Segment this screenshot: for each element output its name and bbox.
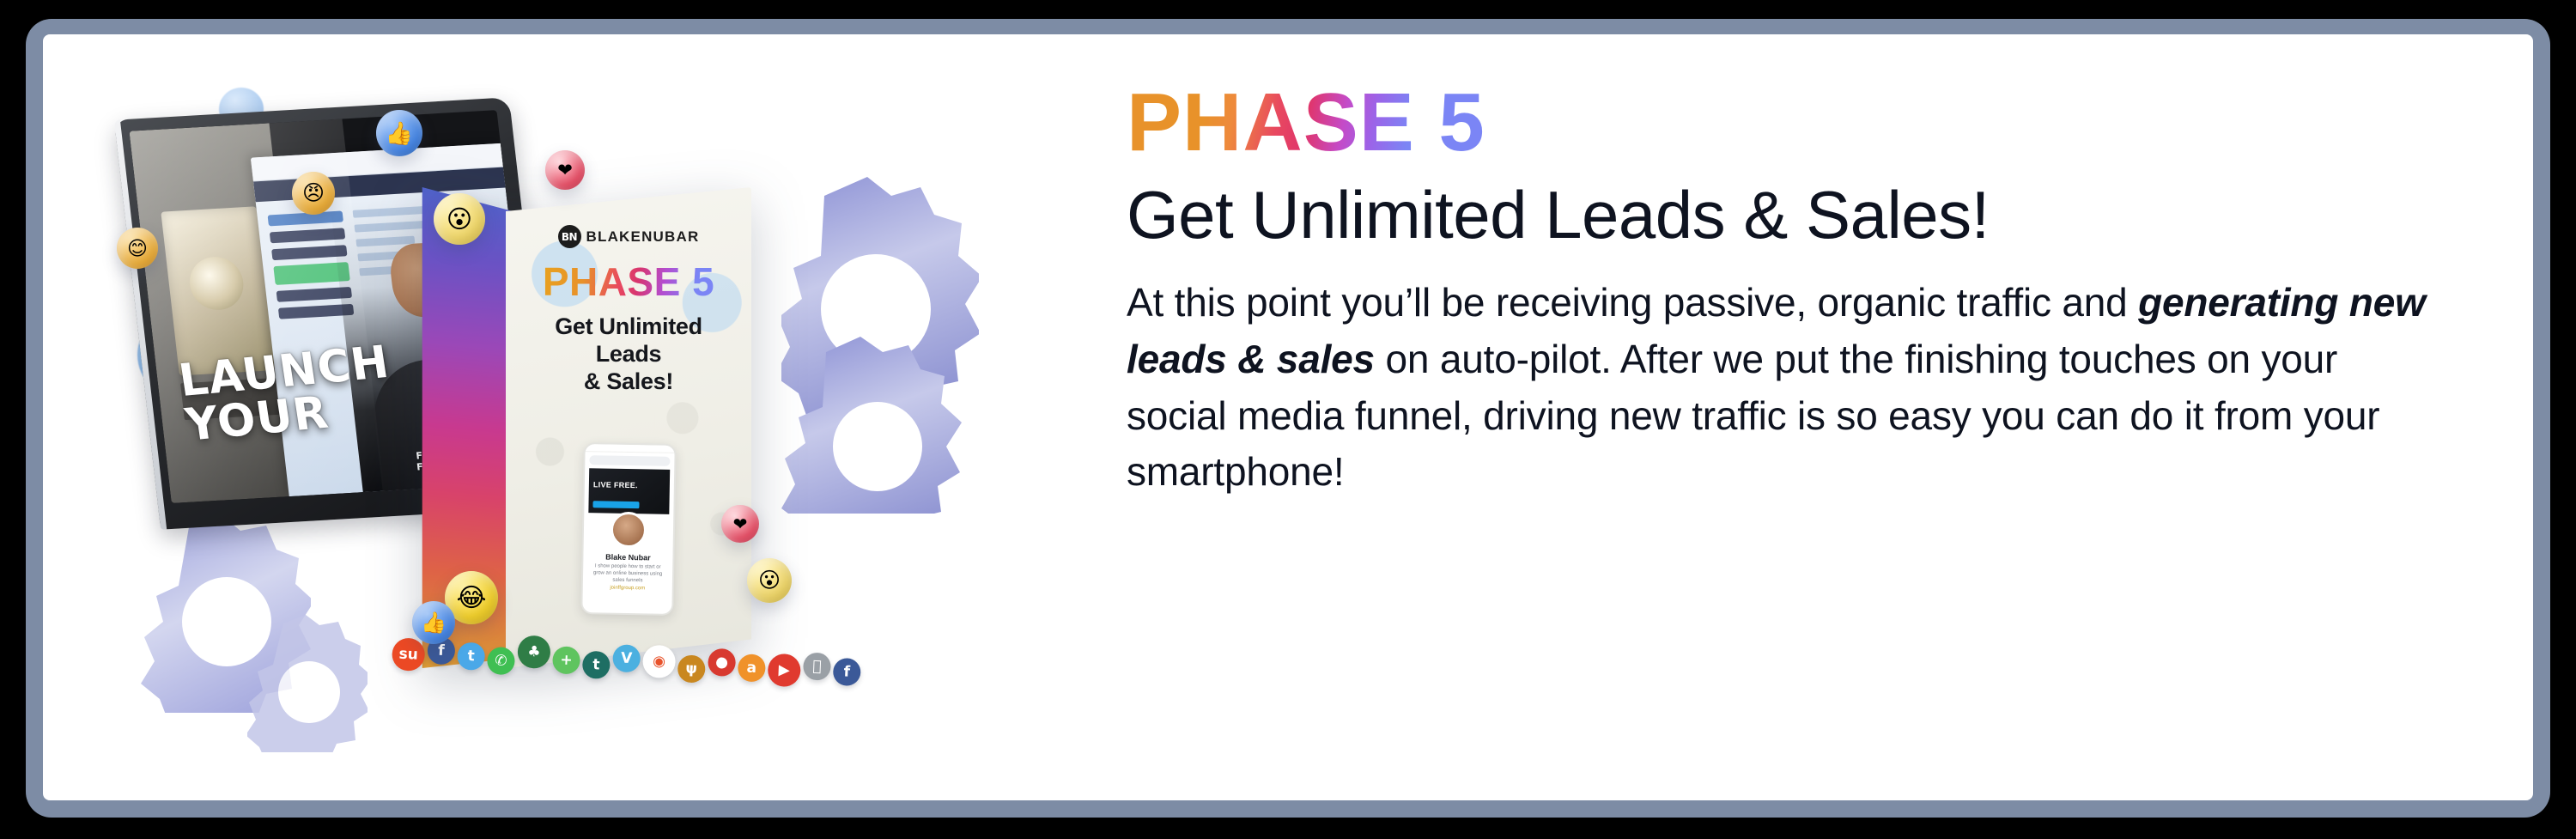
pitchfork-icon: ψ: [677, 654, 706, 683]
gear-icon-large-right: [781, 144, 979, 514]
gear-icon-left: [139, 515, 311, 713]
youtube-icon: ▶: [768, 654, 802, 688]
stumbleupon-icon: su: [392, 637, 426, 672]
vimeo-icon: V: [612, 644, 641, 672]
twitter-icon: t: [457, 642, 485, 671]
phase-eyebrow: PHASE 5: [1127, 81, 1485, 165]
plus-icon: +: [552, 646, 580, 674]
promo-card-frame: FREEDOM FIGHTERS LAUNCH YOUR PHASE 5: [26, 19, 2550, 818]
facebook-icon-2: f: [833, 658, 861, 686]
apple-icon: : [803, 652, 831, 680]
phone-profile-description: I show people how to start or grow an on…: [583, 561, 672, 587]
red-icon: ●: [708, 648, 736, 677]
box-tagline-line-1: Get Unlimited Leads: [555, 313, 702, 367]
gear-icon-small-bottom: [247, 615, 368, 752]
avatar: [611, 512, 647, 549]
amazon-icon: a: [738, 654, 766, 682]
text-content: PHASE 5 Get Unlimited Leads & Sales! At …: [1127, 81, 2500, 501]
love-reaction-icon: ❤: [545, 150, 585, 190]
cover-text: LIVE FREE.: [593, 480, 638, 489]
teal-icon: t: [582, 651, 611, 679]
facebook-icon: f: [427, 636, 455, 665]
body-copy-part-1: At this point you’ll be receiving passiv…: [1127, 280, 2138, 325]
reddit-icon: ◉: [642, 645, 677, 679]
phone-cta-button: [592, 501, 639, 508]
box-phase-title: PHASE 5: [543, 262, 714, 301]
box-tagline: Get Unlimited Leads & Sales!: [521, 313, 736, 396]
promo-card: FREEDOM FIGHTERS LAUNCH YOUR PHASE 5: [43, 34, 2533, 800]
whatsapp-icon: ✆: [487, 647, 515, 675]
brand-wordmark: BLAKENUBAR: [586, 228, 700, 246]
tree-icon: ♣: [517, 635, 551, 669]
phone-status-bar: [586, 444, 675, 453]
phone-search-bar: [589, 455, 670, 466]
page-title: Get Unlimited Leads & Sales!: [1127, 179, 2500, 251]
brand-logo: BN BLAKENUBAR: [521, 225, 736, 248]
social-icon-cluster: suft✆♣+tV◉ψ●a▶f: [392, 575, 790, 686]
bn-monogram-icon: BN: [558, 225, 581, 248]
product-visual: FREEDOM FIGHTERS LAUNCH YOUR PHASE 5: [43, 34, 1082, 800]
phone-cover-photo: LIVE FREE.: [588, 468, 670, 514]
body-copy: At this point you’ll be receiving passiv…: [1127, 275, 2440, 501]
box-tagline-line-2: & Sales!: [584, 368, 673, 394]
